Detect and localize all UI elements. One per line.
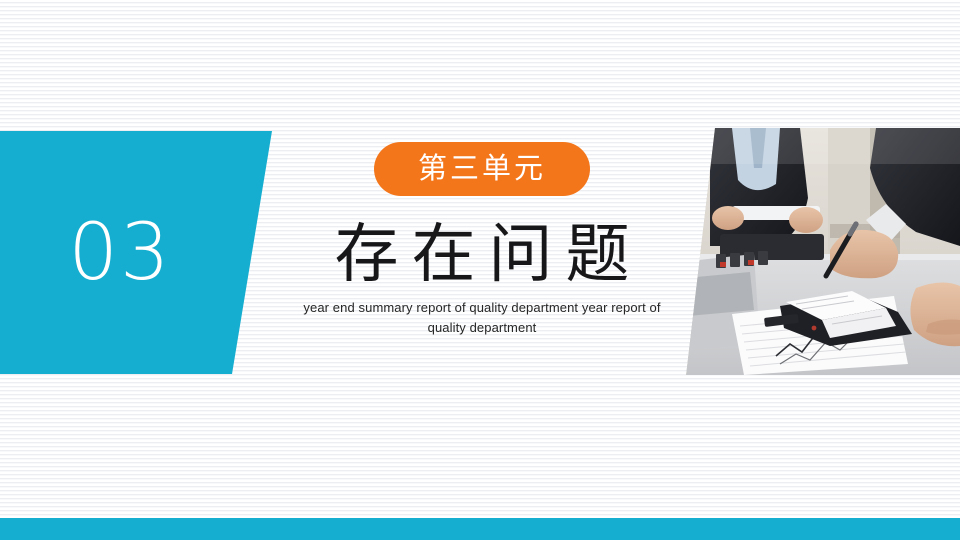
unit-badge: 第三单元 xyxy=(374,142,590,196)
page-title: 存在问题 xyxy=(272,218,692,292)
section-number: 03 xyxy=(0,131,240,374)
photo-illustration xyxy=(680,128,960,375)
business-meeting-photo xyxy=(680,128,960,375)
presentation-slide: 03 第三单元 存在问题 year end summary report of … xyxy=(0,0,960,540)
page-subtitle: year end summary report of quality depar… xyxy=(292,298,672,338)
slide-title-block: 第三单元 存在问题 year end summary report of qua… xyxy=(272,131,692,338)
footer-bar xyxy=(0,518,960,540)
